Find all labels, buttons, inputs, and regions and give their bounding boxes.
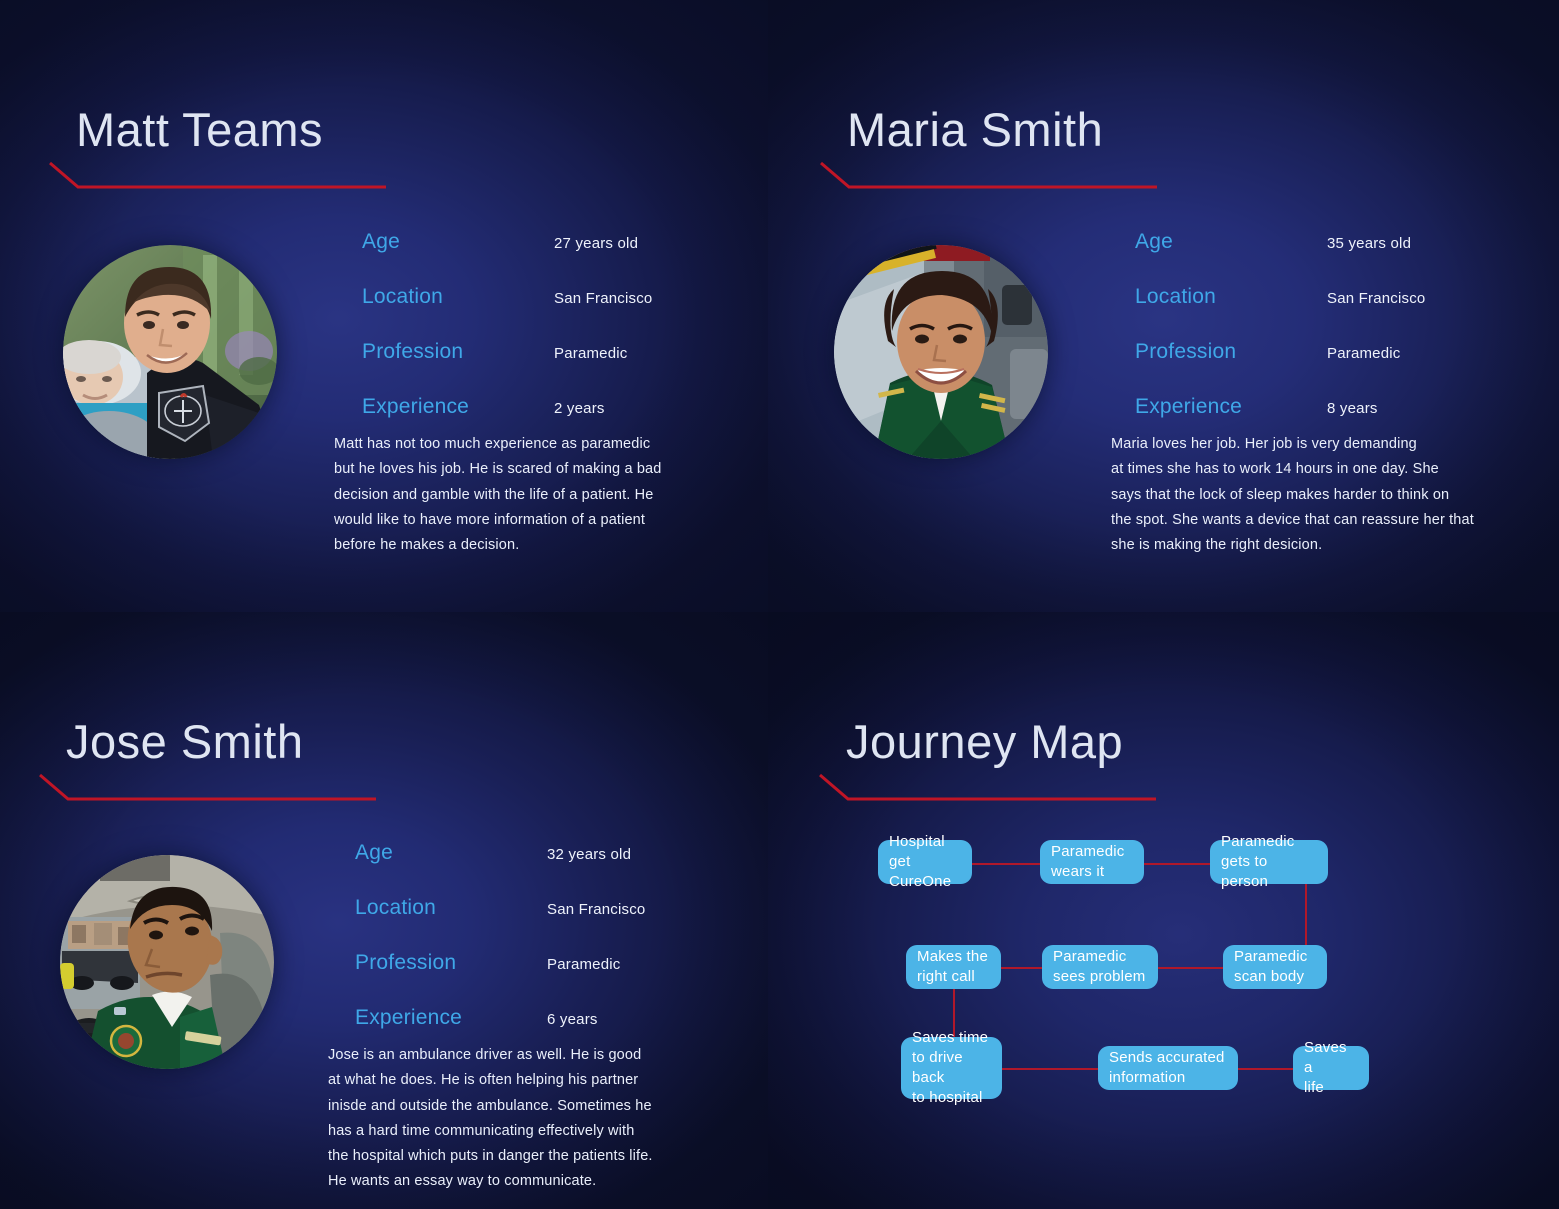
journey-flow-diagram: Hospital get CureOne Paramedic wears it … [768, 612, 1559, 1209]
journey-map-panel: Journey Map Hospital get CureOne Paramed… [768, 612, 1559, 1209]
fact-row: Location San Francisco [362, 285, 652, 340]
connector-n1-n2 [969, 863, 1045, 865]
page-title: Jose Smith [66, 718, 303, 765]
fact-label-location: Location [362, 285, 554, 309]
fact-row: Profession Paramedic [1135, 340, 1425, 395]
title-underline-accent [48, 161, 388, 195]
bio-jose: Jose is an ambulance driver as well. He … [328, 1043, 678, 1195]
fact-label-age: Age [1135, 230, 1327, 254]
bio-matt: Matt has not too much experience as para… [334, 432, 684, 558]
fact-value-experience: 8 years [1327, 400, 1378, 417]
fact-row: Age 32 years old [355, 841, 645, 896]
fact-label-age: Age [355, 841, 547, 865]
connector-n8-n9 [1234, 1068, 1297, 1070]
persona-panel-maria: Maria Smith [768, 0, 1559, 612]
journey-node-paramedic-scan-body[interactable]: Paramedic scan body [1223, 945, 1327, 989]
avatar-matt [63, 245, 277, 459]
persona-panel-matt: Matt Teams [0, 0, 768, 612]
fact-list-jose-rows: Age 32 years old Location San Francisco … [355, 841, 645, 1061]
persona-board: Matt Teams [0, 0, 1559, 1209]
red-accent-rule-icon [48, 161, 388, 195]
fact-value-profession: Paramedic [554, 345, 628, 362]
fact-value-age: 27 years old [554, 235, 638, 252]
fact-value-profession: Paramedic [1327, 345, 1401, 362]
fact-label-experience: Experience [355, 1006, 547, 1030]
fact-value-location: San Francisco [554, 290, 652, 307]
avatar-jose [60, 855, 274, 1069]
fact-row: Location San Francisco [1135, 285, 1425, 340]
red-accent-rule-icon [38, 773, 378, 807]
journey-node-saves-time-to-drive-back[interactable]: Saves time to drive back to hospital [901, 1037, 1002, 1099]
connector-n2-n3 [1143, 863, 1213, 865]
journey-node-saves-a-life[interactable]: Saves a life [1293, 1046, 1369, 1090]
fact-value-location: San Francisco [1327, 290, 1425, 307]
page-title: Maria Smith [847, 106, 1103, 153]
persona-panel-jose: Jose Smith [0, 612, 768, 1209]
journey-node-paramedic-gets-to-person[interactable]: Paramedic gets to person [1210, 840, 1328, 884]
fact-value-age: 32 years old [547, 846, 631, 863]
panel-title-jose: Jose Smith [66, 718, 303, 765]
paramedic-photo-icon [834, 245, 1048, 459]
panel-title-maria: Maria Smith [847, 106, 1103, 153]
fact-list-matt: Age 27 years old Location San Francisco … [362, 230, 652, 450]
paramedic-photo-icon [63, 245, 277, 459]
fact-row: Age 35 years old [1135, 230, 1425, 285]
journey-node-paramedic-sees-problem[interactable]: Paramedic sees problem [1042, 945, 1158, 989]
panel-title-matt: Matt Teams [76, 106, 323, 153]
avatar-maria [834, 245, 1048, 459]
journey-node-hospital-get-cureone[interactable]: Hospital get CureOne [878, 840, 972, 884]
fact-label-profession: Profession [362, 340, 554, 364]
journey-node-makes-the-right-call[interactable]: Makes the right call [906, 945, 1001, 989]
fact-label-age: Age [362, 230, 554, 254]
journey-node-sends-accurated-information[interactable]: Sends accurated information [1098, 1046, 1238, 1090]
fact-list-maria: Age 35 years old Location San Francisco … [1135, 230, 1425, 450]
title-underline-accent [819, 161, 1159, 195]
title-underline-accent [38, 773, 378, 807]
fact-value-location: San Francisco [547, 901, 645, 918]
fact-value-experience: 2 years [554, 400, 605, 417]
fact-label-experience: Experience [362, 395, 554, 419]
fact-value-profession: Paramedic [547, 956, 621, 973]
fact-label-profession: Profession [355, 951, 547, 975]
connector-n7-n8 [999, 1068, 1100, 1070]
red-accent-rule-icon [819, 161, 1159, 195]
fact-row: Profession Paramedic [362, 340, 652, 395]
bio-maria: Maria loves her job. Her job is very dem… [1111, 432, 1481, 558]
page-title: Matt Teams [76, 106, 323, 153]
fact-label-location: Location [1135, 285, 1327, 309]
fact-row: Profession Paramedic [355, 951, 645, 1006]
fact-label-profession: Profession [1135, 340, 1327, 364]
fact-row: Age 27 years old [362, 230, 652, 285]
fact-row: Location San Francisco [355, 896, 645, 951]
fact-label-location: Location [355, 896, 547, 920]
fact-value-experience: 6 years [547, 1011, 598, 1028]
journey-node-paramedic-wears-it[interactable]: Paramedic wears it [1040, 840, 1144, 884]
fact-value-age: 35 years old [1327, 235, 1411, 252]
fact-label-experience: Experience [1135, 395, 1327, 419]
paramedic-photo-icon [60, 855, 274, 1069]
